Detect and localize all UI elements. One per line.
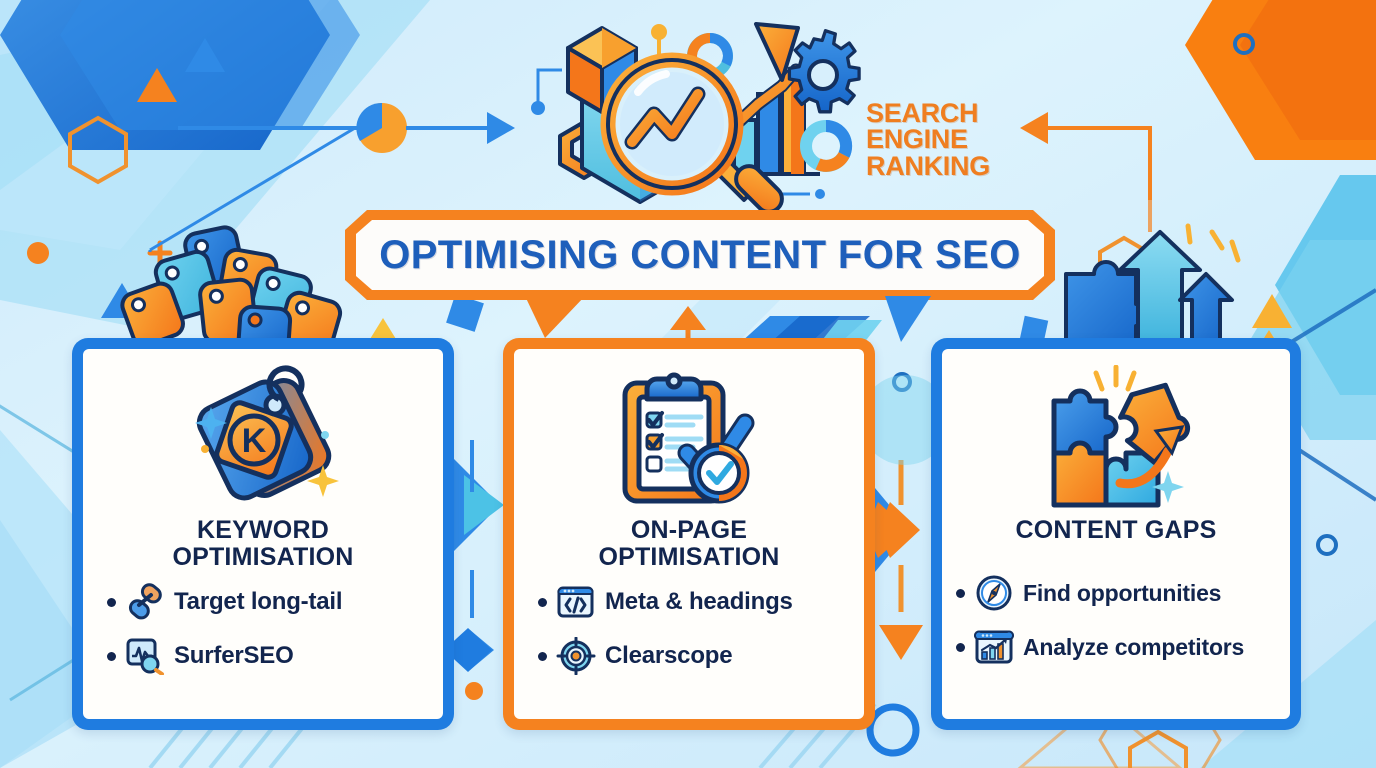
card-title: CONTENT GAPS <box>1015 517 1216 544</box>
target-crosshair-icon <box>556 637 596 675</box>
bullet-text: Meta & headings <box>605 588 793 616</box>
card-on-page-optimisation[interactable]: ON-PAGE OPTIMISATION Meta & headings <box>503 338 875 730</box>
bullet-text: SurferSEO <box>174 642 294 670</box>
bullet-dot <box>956 643 965 652</box>
content-gap-puzzle-cluster <box>1040 222 1310 354</box>
page-title: OPTIMISING CONTENT FOR SEO <box>379 233 1021 278</box>
bullet-dot <box>538 598 547 607</box>
card-face: K KEYWORD OPTIMISATION <box>83 349 443 719</box>
card-title-line-2: OPTIMISATION <box>598 543 779 571</box>
puzzle-pieces-icon <box>1036 365 1196 515</box>
bullet-dot <box>538 652 547 661</box>
card-face: ON-PAGE OPTIMISATION Meta & headings <box>514 349 864 719</box>
bullet-text: Clearscope <box>605 642 732 670</box>
price-tag-keyword-icon: K <box>183 365 343 515</box>
card-title: KEYWORD OPTIMISATION <box>172 517 353 571</box>
card-title-line-2: OPTIMISATION <box>172 543 353 571</box>
card-content-gaps[interactable]: CONTENT GAPS Find opportunities <box>931 338 1301 730</box>
ranking-line-3: RANKING <box>866 153 1016 179</box>
analytics-search-icon <box>125 637 165 675</box>
bar-chart-window-icon <box>974 628 1014 666</box>
card-title-line-1: ON-PAGE <box>631 516 747 544</box>
list-item[interactable]: Meta & headings <box>538 583 864 621</box>
hero-illustration <box>520 8 865 223</box>
title-banner: OPTIMISING CONTENT FOR SEO <box>345 210 1055 300</box>
list-item[interactable]: Analyze competitors <box>956 628 1290 666</box>
card-title-line-1: KEYWORD <box>197 516 329 544</box>
infographic-canvas: SEARCH ENGINE RANKING OPTIMISING CONTENT… <box>0 0 1376 768</box>
list-item[interactable]: Find opportunities <box>956 574 1290 612</box>
list-item[interactable]: Clearscope <box>538 637 864 675</box>
bullet-text: Find opportunities <box>1023 580 1221 607</box>
ranking-line-2: ENGINE <box>866 126 1016 152</box>
list-item[interactable]: SurferSEO <box>107 637 443 675</box>
clipboard-checklist-icon <box>609 365 769 515</box>
bullet-list: Meta & headings Clearscope <box>514 571 864 691</box>
bullet-list: Find opportunities Analyze competit <box>942 544 1290 682</box>
bullet-text: Target long-tail <box>174 588 342 616</box>
code-window-icon <box>556 583 596 621</box>
compass-icon <box>974 574 1014 612</box>
bullet-dot <box>107 652 116 661</box>
bullet-dot <box>107 598 116 607</box>
link-chain-icon <box>125 583 165 621</box>
banner-inner-panel: OPTIMISING CONTENT FOR SEO <box>356 220 1044 290</box>
card-title-line-1: CONTENT GAPS <box>1015 516 1216 544</box>
card-face: CONTENT GAPS Find opportunities <box>942 349 1290 719</box>
search-engine-ranking-label: SEARCH ENGINE RANKING <box>866 100 1016 179</box>
bullet-dot <box>956 589 965 598</box>
svg-text:K: K <box>242 422 267 460</box>
hero-svg <box>520 8 865 223</box>
keyword-tags-cluster <box>95 222 365 354</box>
card-keyword-optimisation[interactable]: K KEYWORD OPTIMISATION <box>72 338 454 730</box>
bullet-list: Target long-tail SurferSEO <box>83 571 443 691</box>
ranking-line-1: SEARCH <box>866 100 1016 126</box>
bullet-text: Analyze competitors <box>1023 634 1244 661</box>
list-item[interactable]: Target long-tail <box>107 583 443 621</box>
card-title: ON-PAGE OPTIMISATION <box>598 517 779 571</box>
